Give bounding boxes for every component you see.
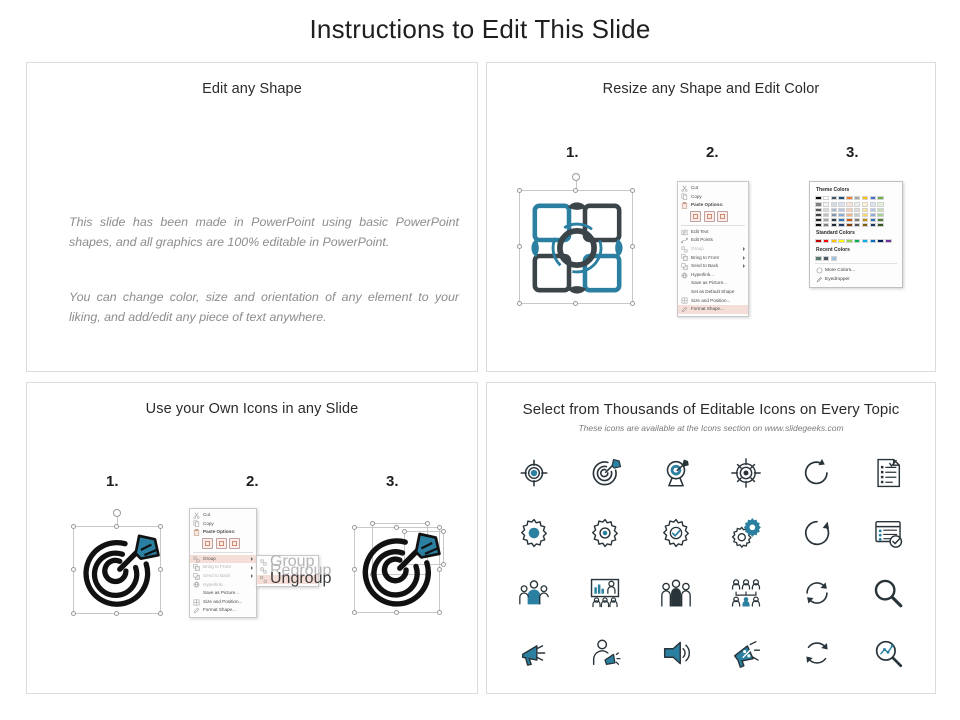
slide-canvas: Instructions to Edit This Slide Edit any… (0, 0, 960, 720)
edit-text-icon (680, 229, 688, 236)
color-swatch[interactable] (870, 223, 877, 227)
panel-icon-library: Select from Thousands of Editable Icons … (486, 382, 936, 694)
gear-filled-icon[interactable] (517, 516, 551, 550)
format-shape-icon (192, 607, 200, 614)
icon-cell[interactable] (499, 565, 570, 621)
color-swatch[interactable] (831, 223, 838, 227)
icon-cell[interactable] (570, 625, 641, 681)
menu-item-label: Group (203, 555, 248, 564)
theme-color-column[interactable] (870, 196, 877, 227)
menu-item-hyperlink[interactable]: Hyperlink... (190, 581, 256, 590)
menu-separator (193, 552, 253, 553)
menu-item-paste-options[interactable]: Paste Options: (190, 528, 256, 537)
size-position-icon (680, 297, 688, 304)
color-picker-panel[interactable]: Theme ColorsStandard ColorsRecent Colors… (809, 181, 903, 288)
eyedropper-button[interactable]: Eyedropper (815, 275, 897, 283)
color-swatch[interactable] (846, 213, 853, 217)
color-swatch[interactable] (854, 223, 861, 227)
color-swatch[interactable] (815, 239, 822, 243)
icon-cell[interactable] (499, 445, 570, 501)
color-swatch[interactable] (823, 256, 830, 260)
color-swatch[interactable] (877, 223, 884, 227)
target-stand-icon[interactable] (659, 456, 693, 490)
people-group-icon[interactable] (517, 576, 551, 610)
color-swatch[interactable] (846, 208, 853, 212)
icon-cell[interactable] (640, 445, 711, 501)
icon-cell[interactable] (570, 505, 641, 561)
color-swatch[interactable] (823, 196, 830, 200)
menu-item-label: Format Shape... (203, 606, 253, 615)
copy-icon (192, 520, 200, 527)
menu-item-group[interactable]: Group (678, 245, 748, 254)
shape-selection-frame[interactable] (519, 190, 633, 304)
icon-cell[interactable] (711, 625, 782, 681)
color-swatch[interactable] (862, 196, 869, 200)
gear-outline-icon[interactable] (588, 516, 622, 550)
color-swatch[interactable] (831, 256, 838, 260)
group-icon (680, 246, 688, 253)
menu-item-edit-points[interactable]: Edit Points (678, 236, 748, 245)
theme-color-column[interactable] (823, 196, 830, 227)
panel-title-icon-library: Select from Thousands of Editable Icons … (487, 401, 935, 418)
send-back-icon (192, 573, 200, 580)
icons-step-number-3: 3. (386, 473, 399, 490)
menu-item-size-and-position[interactable]: Size and Position... (190, 598, 256, 607)
paste-picture-icon[interactable] (717, 211, 728, 222)
icon-library-subtitle: These icons are available at the Icons s… (487, 423, 935, 433)
scissors-icon (680, 185, 688, 192)
resize-handle-nw[interactable] (71, 524, 76, 529)
color-swatch[interactable] (870, 208, 877, 212)
presentation-audience-icon[interactable] (588, 576, 622, 610)
paste-options-row[interactable] (190, 537, 256, 551)
edit-points-icon (680, 237, 688, 244)
menu-item-group[interactable]: Group (190, 555, 256, 564)
resize-handle-s[interactable] (573, 301, 578, 306)
format-shape-icon (680, 306, 688, 313)
four-squares-rotate-icon (520, 191, 634, 305)
color-swatch[interactable] (823, 223, 830, 227)
menu-item-label: Set as Default Shape (691, 288, 745, 297)
magnifier-chart-icon[interactable] (871, 636, 905, 670)
menu-item-label: Size and Position... (203, 598, 253, 607)
theme-color-column[interactable] (846, 196, 853, 227)
color-swatch[interactable] (846, 239, 853, 243)
color-swatch[interactable] (854, 239, 861, 243)
resize-handle-n[interactable] (114, 524, 119, 529)
hyperlink-icon (192, 581, 200, 588)
color-swatch[interactable] (815, 218, 822, 222)
color-swatch[interactable] (815, 208, 822, 212)
hyperlink-icon (680, 272, 688, 279)
dartboard-arrow-icon[interactable] (588, 456, 622, 490)
color-swatch[interactable] (854, 208, 861, 212)
menu-item-label: Format Shape... (691, 305, 745, 314)
resize-handle-sw[interactable] (517, 301, 522, 306)
color-swatch[interactable] (854, 218, 861, 222)
color-swatch[interactable] (838, 202, 845, 206)
copy-icon (680, 193, 688, 200)
chevron-right-icon (743, 264, 745, 268)
color-swatch[interactable] (854, 202, 861, 206)
menu-item-format-shape[interactable]: Format Shape... (678, 305, 748, 314)
menu-item-cut[interactable]: Cut (190, 511, 256, 520)
icon-cell[interactable] (640, 625, 711, 681)
color-swatch[interactable] (815, 256, 822, 260)
menu-item-label: Hyperlink... (203, 581, 253, 590)
paste-icon (192, 529, 200, 536)
team-three-people-icon[interactable] (659, 576, 693, 610)
none (680, 280, 688, 287)
standard-colors-title: Standard Colors (816, 230, 897, 236)
color-swatch[interactable] (862, 239, 869, 243)
icon-cell[interactable] (711, 505, 782, 561)
magnifier-icon[interactable] (871, 576, 905, 610)
color-swatch[interactable] (862, 213, 869, 217)
color-swatch[interactable] (831, 213, 838, 217)
color-swatch[interactable] (815, 202, 822, 206)
theme-color-column[interactable] (838, 196, 845, 227)
color-swatch[interactable] (862, 218, 869, 222)
theme-color-column[interactable] (815, 196, 822, 227)
circular-arrows-icon[interactable] (800, 636, 834, 670)
resize-handle-sw[interactable] (71, 611, 76, 616)
paste-icon (680, 202, 688, 209)
color-swatch[interactable] (854, 213, 861, 217)
color-swatch[interactable] (885, 239, 892, 243)
menu-item-label: Paste Options: (691, 201, 745, 210)
size-position-icon (192, 599, 200, 606)
circular-arrow-icon[interactable] (800, 516, 834, 550)
double-gear-icon[interactable] (729, 516, 763, 550)
resize-handle-w[interactable] (517, 244, 522, 249)
color-swatch[interactable] (877, 213, 884, 217)
menu-item-paste-options[interactable]: Paste Options: (678, 201, 748, 210)
menu-item-label: Size and Position... (691, 297, 745, 306)
menu-item-label: Send to Back (691, 262, 740, 271)
edit-shape-paragraph-2: You can change color, size and orientati… (69, 288, 459, 328)
panel-title-own-icons: Use your Own Icons in any Slide (27, 401, 477, 417)
color-swatch[interactable] (823, 208, 830, 212)
color-swatch[interactable] (823, 213, 830, 217)
color-swatch[interactable] (877, 218, 884, 222)
crosshair-target-icon[interactable] (729, 456, 763, 490)
menu-item-send-to-back[interactable]: Send to Back (190, 572, 256, 581)
megaphone-percent-icon[interactable] (729, 636, 763, 670)
menu-item-label: Send to Back (203, 572, 248, 581)
recent-colors-title: Recent Colors (816, 247, 897, 253)
menu-item-copy[interactable]: Copy (678, 193, 748, 202)
panel-title-resize-shape: Resize any Shape and Edit Color (487, 81, 935, 97)
resize-handle-se[interactable] (158, 611, 163, 616)
color-swatch[interactable] (877, 196, 884, 200)
bring-front-icon (192, 564, 200, 571)
menu-item-save-as-picture[interactable]: Save as Picture... (190, 589, 256, 598)
resize-handle-ne[interactable] (158, 524, 163, 529)
paste-merge-formatting-icon[interactable] (216, 538, 227, 549)
color-swatch[interactable] (862, 202, 869, 206)
regroup-icon (259, 567, 267, 574)
icon-cell[interactable] (711, 565, 782, 621)
icon-cell[interactable] (640, 505, 711, 561)
none (192, 590, 200, 597)
icons-step-number-2: 2. (246, 473, 259, 490)
resize-handle-ne[interactable] (630, 188, 635, 193)
resize-handle-e[interactable] (630, 244, 635, 249)
chevron-right-icon (251, 557, 253, 561)
resize-handle-e[interactable] (158, 567, 163, 572)
color-swatch[interactable] (862, 208, 869, 212)
panel-edit-any-shape: Edit any Shape This slide has been made … (26, 62, 478, 372)
resize-handle-n[interactable] (573, 188, 578, 193)
megaphone-icon[interactable] (517, 636, 551, 670)
resize-step-number-2: 2. (706, 144, 719, 161)
color-swatch[interactable] (831, 196, 838, 200)
group-icon (259, 559, 267, 566)
page-title: Instructions to Edit This Slide (0, 14, 960, 45)
eyedropper-icon (815, 276, 823, 283)
theme-color-column[interactable] (862, 196, 869, 227)
team-hierarchy-icon[interactable] (729, 576, 763, 610)
icon-cell[interactable] (782, 565, 853, 621)
menu-item-send-to-back[interactable]: Send to Back (678, 262, 748, 271)
send-back-icon (680, 263, 688, 270)
chevron-right-icon (743, 256, 745, 260)
paste-picture-icon[interactable] (229, 538, 240, 549)
panel-own-icons: Use your Own Icons in any Slide 1. 2. 3. (26, 382, 478, 694)
checklist-approved-icon[interactable] (871, 516, 905, 550)
menu-item-label: Hyperlink... (691, 271, 745, 280)
menu-item-label: Copy (203, 520, 253, 529)
chevron-right-icon (743, 247, 745, 251)
icon-cell[interactable] (782, 625, 853, 681)
color-swatch[interactable] (815, 213, 822, 217)
menu-item-edit-text[interactable]: Edit Text (678, 228, 748, 237)
checklist-document-icon[interactable] (871, 456, 905, 490)
ungroup-icon (259, 576, 267, 583)
chevron-right-icon (251, 566, 253, 570)
menu-separator (681, 225, 745, 226)
icon-cell[interactable] (499, 505, 570, 561)
standard-colors-row[interactable] (815, 239, 897, 243)
menu-item-bring-to-front[interactable]: Bring to Front (678, 254, 748, 263)
menu-item-format-shape[interactable]: Format Shape... (190, 606, 256, 615)
color-swatch[interactable] (862, 223, 869, 227)
icon-cell[interactable] (852, 565, 923, 621)
target-crosshair-filled-icon[interactable] (517, 456, 551, 490)
theme-color-column[interactable] (877, 196, 884, 227)
icons-step-number-1: 1. (106, 473, 119, 490)
more-colors-label: More Colors... (825, 268, 855, 273)
menu-item-label: Save as Picture... (203, 589, 253, 598)
color-swatch[interactable] (877, 208, 884, 212)
paste-merge-formatting-icon[interactable] (704, 211, 715, 222)
more-colors-button[interactable]: More Colors... (815, 266, 897, 274)
icon-cell[interactable] (852, 505, 923, 561)
bring-front-icon (680, 254, 688, 261)
color-swatch[interactable] (831, 202, 838, 206)
dartboard-arrow-icon (74, 527, 162, 615)
menu-item-label: Copy (691, 193, 745, 202)
menu-item-copy[interactable]: Copy (190, 520, 256, 529)
icon-cell[interactable] (499, 625, 570, 681)
color-swatch[interactable] (854, 196, 861, 200)
paste-keep-formatting-icon[interactable] (690, 211, 701, 222)
chevron-right-icon (251, 574, 253, 578)
resize-step-number-3: 3. (846, 144, 859, 161)
color-swatch[interactable] (838, 218, 845, 222)
ungrouped-dartboard-group[interactable] (352, 523, 448, 617)
more-colors-icon (815, 267, 823, 274)
edit-shape-paragraph-1: This slide has been made in PowerPoint u… (69, 213, 459, 253)
icon-cell[interactable] (711, 445, 782, 501)
color-swatch[interactable] (838, 196, 845, 200)
menu-item-label: Bring to Front (691, 254, 740, 263)
color-swatch[interactable] (831, 218, 838, 222)
person-megaphone-icon[interactable] (588, 636, 622, 670)
paste-keep-formatting-icon[interactable] (202, 538, 213, 549)
menu-item-size-and-position[interactable]: Size and Position... (678, 297, 748, 306)
theme-color-column[interactable] (854, 196, 861, 227)
resize-handle-nw[interactable] (517, 188, 522, 193)
color-swatch[interactable] (846, 223, 853, 227)
color-swatch[interactable] (846, 202, 853, 206)
icon-cell[interactable] (640, 565, 711, 621)
theme-color-column[interactable] (831, 196, 838, 227)
resize-handle-s[interactable] (114, 611, 119, 616)
recent-colors-row[interactable] (815, 256, 897, 260)
resize-handle-se[interactable] (630, 301, 635, 306)
eyedropper-label: Eyedropper (825, 277, 850, 282)
color-swatch[interactable] (870, 196, 877, 200)
menu-item-cut[interactable]: Cut (678, 184, 748, 193)
theme-colors-title: Theme Colors (816, 187, 897, 193)
color-swatch[interactable] (823, 239, 830, 243)
scissors-icon (192, 512, 200, 519)
group-submenu[interactable]: GroupRegroupUngroup (256, 555, 319, 587)
resize-handle-w[interactable] (71, 567, 76, 572)
icon-cell[interactable] (782, 505, 853, 561)
menu-item-label: Edit Points (691, 236, 745, 245)
speaker-sound-icon[interactable] (659, 636, 693, 670)
color-swatch[interactable] (838, 239, 845, 243)
color-swatch[interactable] (846, 196, 853, 200)
theme-colors-grid[interactable] (815, 196, 897, 227)
color-swatch[interactable] (846, 218, 853, 222)
context-menu-resize[interactable]: CutCopyPaste Options:Edit TextEdit Point… (677, 181, 749, 317)
icon-cell[interactable] (570, 445, 641, 501)
menu-item-set-as-default-shape[interactable]: Set as Default Shape (678, 288, 748, 297)
menu-item-label: Cut (203, 511, 253, 520)
dartboard-arrow-ungrouped-icon (352, 525, 444, 615)
none (680, 289, 688, 296)
color-swatch[interactable] (838, 213, 845, 217)
resize-step-number-1: 1. (566, 144, 579, 161)
menu-item-bring-to-front[interactable]: Bring to Front (190, 563, 256, 572)
menu-item-label: Paste Options: (203, 528, 253, 537)
icon-library-grid (499, 445, 923, 681)
menu-item-label: Save as Picture... (691, 279, 745, 288)
icon-cell[interactable] (782, 445, 853, 501)
menu-item-label: Edit Text (691, 228, 745, 237)
color-swatch[interactable] (815, 196, 822, 200)
panel-resize-shape: Resize any Shape and Edit Color 1. 2. 3. (486, 62, 936, 372)
menu-item-label: Bring to Front (203, 563, 248, 572)
refresh-arrow-icon[interactable] (800, 456, 834, 490)
rotate-handle-dartboard[interactable] (113, 509, 121, 517)
color-swatch[interactable] (870, 213, 877, 217)
color-swatch[interactable] (877, 239, 884, 243)
color-swatch[interactable] (823, 202, 830, 206)
color-swatch[interactable] (877, 202, 884, 206)
icon-cell[interactable] (570, 565, 641, 621)
color-swatch[interactable] (831, 208, 838, 212)
color-swatch[interactable] (870, 218, 877, 222)
paste-options-row[interactable] (678, 210, 748, 224)
menu-separator (815, 263, 897, 264)
color-swatch[interactable] (838, 223, 845, 227)
gear-check-icon[interactable] (659, 516, 693, 550)
menu-item-save-as-picture[interactable]: Save as Picture... (678, 279, 748, 288)
panel-title-edit-shape: Edit any Shape (27, 81, 477, 97)
menu-item-label: Cut (691, 184, 745, 193)
color-swatch[interactable] (815, 223, 822, 227)
dartboard-selection-frame[interactable] (73, 526, 161, 614)
color-swatch[interactable] (870, 202, 877, 206)
icon-cell[interactable] (852, 445, 923, 501)
context-menu-icons[interactable]: CutCopyPaste Options:GroupBring to Front… (189, 508, 257, 618)
color-swatch[interactable] (870, 239, 877, 243)
sync-arrows-icon[interactable] (800, 576, 834, 610)
color-swatch[interactable] (831, 239, 838, 243)
icon-cell[interactable] (852, 625, 923, 681)
menu-item-hyperlink[interactable]: Hyperlink... (678, 271, 748, 280)
submenu-item-label: Ungroup (270, 575, 331, 584)
rotate-handle[interactable] (572, 173, 580, 181)
group-icon (192, 556, 200, 563)
color-swatch[interactable] (823, 218, 830, 222)
menu-item-label: Group (691, 245, 740, 254)
color-swatch[interactable] (838, 208, 845, 212)
submenu-item-ungroup[interactable]: Ungroup (257, 575, 318, 584)
